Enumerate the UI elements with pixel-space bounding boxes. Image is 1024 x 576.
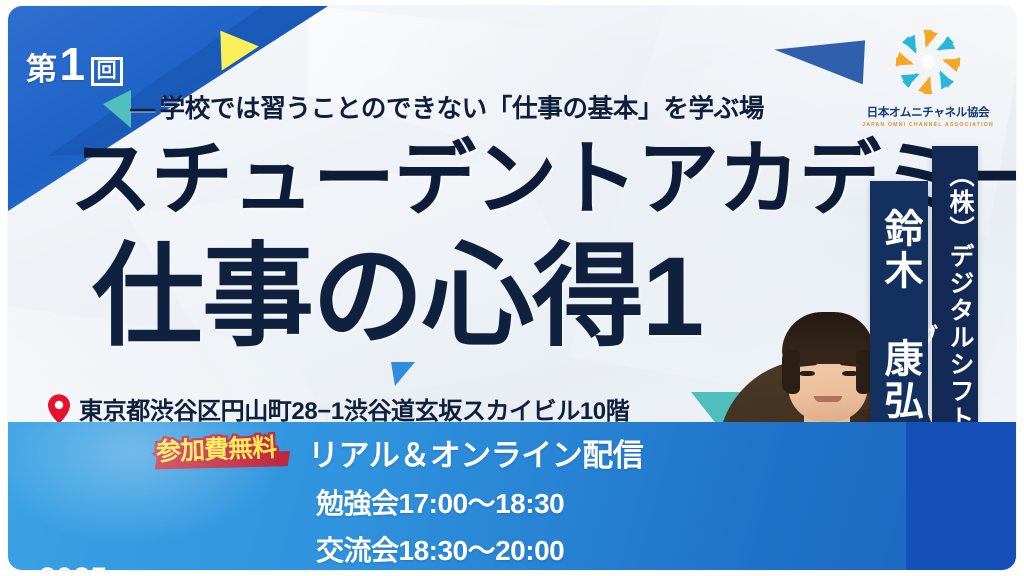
speaker-name-plate: 鈴木 康弘 <box>870 181 928 439</box>
yellow-triangle-icon <box>220 29 259 70</box>
subtitle: —学校では習うことのできない「仕事の基本」を学ぶ場 <box>130 88 764 125</box>
issue-prefix: 第 <box>26 44 58 89</box>
subtitle-dash: — <box>130 95 154 123</box>
free-badge-ribbon <box>154 449 291 471</box>
association-name-en: JAPAN OMNI CHANNEL ASSOCIATION <box>862 122 994 128</box>
association-name-ja: 日本オムニチャネル協会 <box>862 104 994 120</box>
poster-card: 第 1 回 <box>8 6 1016 570</box>
speaker-hair-left <box>782 350 800 394</box>
speaker-eye-left <box>799 371 815 376</box>
info-band: 2025 5 / 14 水 参加費無料 リアル＆オンライン配信 勉強会17:00… <box>8 422 1016 570</box>
event-poster: 第 1 回 <box>0 0 1024 576</box>
omni-channel-starburst-icon <box>890 24 966 100</box>
venue-address: 東京都渋谷区円山町28−1渋谷道玄坂スカイビル10階 <box>48 391 629 426</box>
speaker-mouth <box>814 396 842 402</box>
event-session-1: 勉強会17:00〜18:30 <box>316 482 643 522</box>
subtitle-text: 学校では習うことのできない「仕事の基本」を学ぶ場 <box>160 95 765 123</box>
speaker-eye-right <box>842 371 858 376</box>
association-logo: 日本オムニチャネル協会 JAPAN OMNI CHANNEL ASSOCIATI… <box>862 24 994 128</box>
teal-triangle-icon <box>103 90 131 128</box>
venue-address-text: 東京都渋谷区円山町28−1渋谷道玄坂スカイビル10階 <box>79 391 629 426</box>
issue-number: 1 <box>60 44 86 85</box>
band-right-block <box>906 422 1016 570</box>
blue-small-triangle-icon <box>391 362 415 386</box>
event-details: リアル＆オンライン配信 勉強会17:00〜18:30 交流会18:30〜20:0… <box>308 430 643 569</box>
date-year: 2025 <box>39 564 108 570</box>
location-pin-icon <box>48 394 70 424</box>
free-admission-label: 参加費無料 <box>155 428 276 469</box>
issue-suffix: 回 <box>91 57 124 86</box>
event-format: リアル＆オンライン配信 <box>308 430 643 475</box>
event-session-2: 交流会18:30〜20:00 <box>316 529 643 569</box>
page-title-line2: 仕事の心得1 <box>92 241 702 353</box>
issue-badge: 第 1 回 <box>26 44 123 89</box>
free-admission-badge: 参加費無料 <box>155 428 276 469</box>
blue-triangle-icon <box>773 36 865 85</box>
